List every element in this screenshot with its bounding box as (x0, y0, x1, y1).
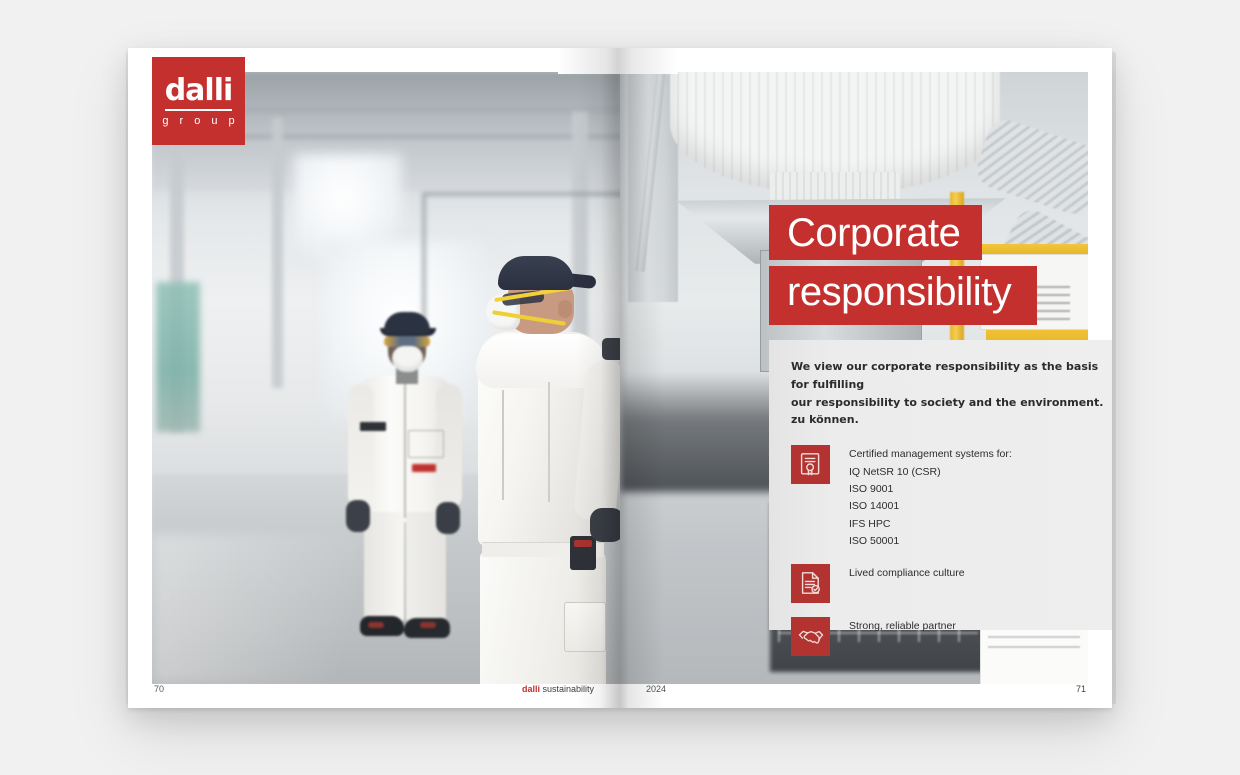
worker-foreground (452, 250, 620, 684)
headline-block-1: Corporate (769, 205, 982, 260)
feature-line: Strong, reliable partner (849, 618, 956, 635)
feature-line: ISO 14001 (849, 498, 1012, 515)
left-page: dalli g r o u p 70 dalli sustainability (128, 48, 620, 708)
logo-subtitle: g r o u p (158, 115, 238, 127)
dalli-group-logo: dalli g r o u p (152, 57, 245, 145)
cap (384, 312, 430, 334)
handshake-icon (791, 617, 830, 656)
feature-text-block: Certified management systems for: IQ Net… (849, 445, 1012, 550)
feature-line: IFS HPC (849, 516, 1012, 533)
document-check-icon (791, 564, 830, 603)
feature-line: IQ NetSR 10 (CSR) (849, 464, 1012, 481)
feature-strong-reliable-partner: Strong, reliable partner (791, 617, 1107, 656)
footer-brand-rest: sustainability (540, 684, 594, 694)
panel-intro: We view our corporate responsibility as … (791, 358, 1107, 429)
footer-brand-bold: dalli (522, 684, 540, 694)
feature-lived-compliance-culture: Lived compliance culture (791, 564, 1107, 603)
publication-year: 2024 (646, 684, 666, 694)
dust-mask (392, 346, 423, 372)
feature-text-block: Lived compliance culture (849, 564, 965, 582)
pillar (272, 118, 283, 388)
logo-wordmark: dalli (165, 76, 233, 111)
right-page: 044561 LIION technology Corporate respon… (620, 48, 1112, 708)
feature-line: ISO 50001 (849, 533, 1012, 550)
feature-line: Lived compliance culture (849, 565, 965, 582)
corporate-responsibility-panel: We view our corporate responsibility as … (769, 340, 1112, 630)
feature-line: ISO 9001 (849, 481, 1012, 498)
coverall-dalli-logo (412, 464, 436, 472)
headline-block-2: responsibility (769, 266, 1037, 325)
work-glove (346, 500, 370, 532)
screenshot-canvas: dalli g r o u p 70 dalli sustainability (0, 0, 1240, 775)
feature-line: Certified management systems for: (849, 446, 1012, 463)
worker-background (342, 312, 466, 642)
panel-intro-line: zu können. (791, 413, 859, 426)
right-page-number: 71 (1076, 684, 1086, 694)
green-machine (156, 282, 200, 432)
production-hall-background (152, 72, 620, 684)
cap (498, 256, 574, 290)
feature-certified-management-systems: Certified management systems for: IQ Net… (791, 445, 1107, 550)
headline-line-1: Corporate (787, 213, 960, 254)
feature-text-block: Strong, reliable partner (849, 617, 956, 635)
factory-workers-photo (152, 72, 620, 684)
footer-brand: dalli sustainability (522, 684, 594, 694)
certificate-icon (791, 445, 830, 484)
panel-intro-line: We view our corporate responsibility as … (791, 360, 1098, 391)
panel-intro-line: our responsibility to society and the en… (791, 396, 1103, 409)
work-glove (590, 508, 620, 542)
headline-line-2: responsibility (787, 272, 1011, 313)
safety-shoe (404, 618, 450, 638)
spine-top-edge (558, 48, 678, 74)
left-page-number: 70 (154, 684, 164, 694)
magazine-spread: dalli g r o u p 70 dalli sustainability (128, 48, 1112, 708)
